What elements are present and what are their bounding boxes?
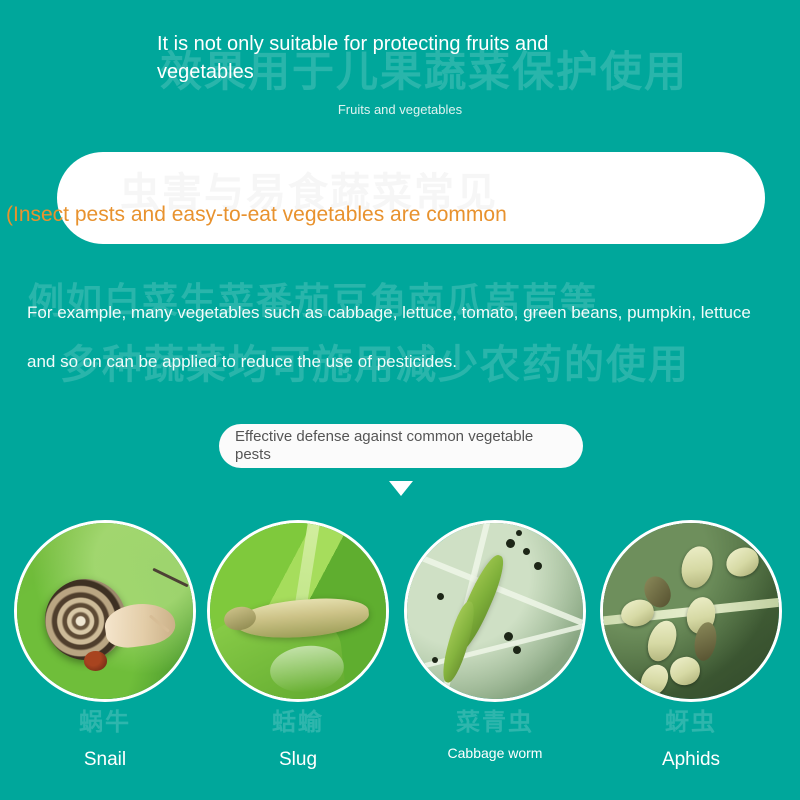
frass-dot-8: [432, 657, 438, 663]
aphids-photo: [600, 520, 782, 702]
aphids-photo-art: [603, 523, 779, 699]
worm-body-shape-2: [438, 599, 480, 686]
pest-ghost-label-cabbage-worm: 菜青虫: [402, 702, 588, 737]
cabbage-worm-photo-art: [407, 523, 583, 699]
pest-label-aphids: Aphids: [598, 749, 784, 771]
banner-text: (Insect pests and easy-to-eat vegetables…: [6, 203, 796, 227]
frass-dot-6: [504, 632, 513, 641]
aphid-shape-7: [636, 660, 672, 699]
pest-ghost-label-slug: 蛞蝓: [205, 702, 391, 737]
pest-item-cabbage-worm[interactable]: 菜青虫 Cabbage worm: [402, 520, 588, 762]
cabbage-worm-photo: [404, 520, 586, 702]
frass-dot-4: [516, 530, 522, 536]
pest-ghost-label-aphids: 蚜虫: [598, 702, 784, 737]
triangle-down-icon: [389, 481, 413, 496]
snail-antenna-shape: [152, 567, 188, 587]
snail-beetle-shape: [84, 651, 107, 670]
page-headline: It is not only suitable for protecting f…: [157, 30, 647, 86]
pest-label-slug: Slug: [205, 749, 391, 771]
aphid-shape-4: [643, 617, 681, 665]
snail-photo: [14, 520, 196, 702]
snail-photo-art: [17, 523, 193, 699]
frass-dot-2: [523, 548, 530, 555]
banner-pill: [57, 152, 765, 244]
aphid-shape-2: [723, 543, 764, 580]
slug-photo: [207, 520, 389, 702]
pest-label-cabbage-worm: Cabbage worm: [402, 745, 588, 762]
page-subtitle: Fruits and vegetables: [0, 102, 800, 117]
callout-text: Effective defense against common vegetab…: [235, 428, 567, 464]
slug-photo-art: [210, 523, 386, 699]
frass-dot-7: [513, 646, 521, 654]
pest-item-aphids[interactable]: 蚜虫 Aphids: [598, 520, 784, 771]
pest-ghost-label-snail: 蜗牛: [12, 702, 198, 737]
frass-dot-5: [437, 593, 444, 600]
frass-dot-1: [506, 539, 515, 548]
aphid-shape-1: [678, 543, 716, 591]
body-paragraph: For example, many vegetables such as cab…: [27, 288, 757, 386]
pest-gallery: 蜗牛 Snail 蛞蝓 Slug: [0, 520, 800, 780]
pest-label-snail: Snail: [12, 749, 198, 771]
promo-page: 效果用于儿果蔬菜保护使用 It is not only suitable for…: [0, 0, 800, 800]
frass-dot-3: [534, 562, 542, 570]
aphid-shape-6: [668, 655, 702, 687]
pest-item-snail[interactable]: 蜗牛 Snail: [12, 520, 198, 771]
pest-item-slug[interactable]: 蛞蝓 Slug: [205, 520, 391, 771]
callout-box: Effective defense against common vegetab…: [219, 424, 583, 468]
